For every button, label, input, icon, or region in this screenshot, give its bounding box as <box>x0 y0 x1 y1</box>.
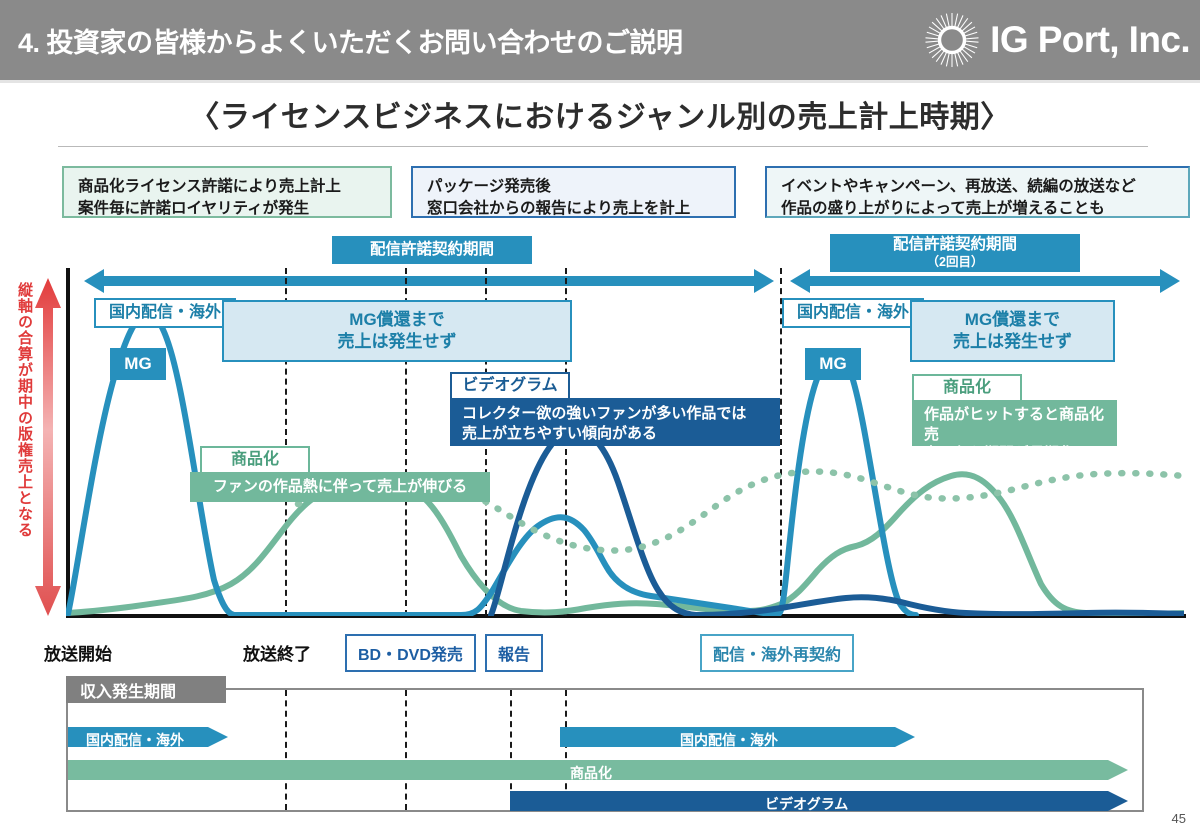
slide-header: 4. 投資家の皆様からよくいただくお問い合わせのご説明 <box>0 0 1200 80</box>
title-divider <box>58 146 1148 147</box>
marker-redistribution-contract: 配信・海外再契約 <box>700 634 854 672</box>
marker-broadcast-end: 放送終了 <box>243 640 311 665</box>
page-number: 45 <box>1172 811 1186 826</box>
chip-videogram-tag: ビデオグラム <box>450 372 570 400</box>
callout-merchandising: 商品化ライセンス許諾により売上計上 案件毎に許諾ロイヤリティが発生 <box>62 166 392 218</box>
ring-logo-icon <box>924 12 980 68</box>
chip-mg-note-right-line2: 売上は発生せず <box>953 331 1072 353</box>
period-tab-1-label: 配信許諾契約期間 <box>370 241 494 259</box>
bar-domestic-2-label: 国内配信・海外 <box>680 730 778 750</box>
marker-report: 報告 <box>485 634 543 672</box>
chip-merch-body-right-line1: 作品がヒットすると商品化売 <box>924 405 1105 444</box>
slide: 4. 投資家の皆様からよくいただくお問い合わせのご説明 <box>0 0 1200 832</box>
period-tab-1: 配信許諾契約期間 <box>332 236 532 264</box>
chip-mg-note-left-line2: 売上は発生せず <box>338 331 457 353</box>
bar-domestic-1-label: 国内配信・海外 <box>86 730 184 750</box>
chip-merch-tag-right: 商品化 <box>912 374 1022 402</box>
btable-guide-1 <box>285 690 287 810</box>
chip-domestic-right: 国内配信・海外 <box>782 298 924 328</box>
chip-videogram-body-line2: 売上が立ちやすい傾向がある <box>462 424 657 444</box>
callout-event: イベントやキャンペーン、再放送、続編の放送など 作品の盛り上がりによって売上が増… <box>765 166 1190 218</box>
page-title: 〈ライセンスビジネスにおけるジャンル別の売上計上時期〉 <box>0 92 1200 136</box>
chip-mg-note-right: MG償還まで 売上は発生せず <box>910 300 1115 362</box>
chip-mg-note-left-line1: MG償還まで <box>349 309 444 331</box>
callout-package: パッケージ発売後 窓口会社からの報告により売上を計上 <box>411 166 736 218</box>
header-title: 4. 投資家の皆様からよくいただくお問い合わせのご説明 <box>18 21 683 60</box>
chip-merch-body-right-line2: 上の収入期間が長期化 <box>924 444 1074 464</box>
chip-mg-note-right-line1: MG償還まで <box>965 309 1060 331</box>
period-tab-2: 配信許諾契約期間 （2回目） <box>830 234 1080 272</box>
brand-name: IG Port, Inc. <box>990 19 1190 61</box>
header-underline <box>0 80 1200 83</box>
chip-domestic-left: 国内配信・海外 <box>94 298 236 328</box>
marker-bd-dvd-release: BD・DVD発売 <box>345 634 476 672</box>
btable-guide-2 <box>405 690 407 810</box>
chip-merch-body-left: ファンの作品熱に伴って売上が伸びる <box>190 472 490 502</box>
income-period-label: 収入発生期間 <box>66 676 226 703</box>
chip-mg-note-left: MG償還まで 売上は発生せず <box>222 300 572 362</box>
bar-merchandising-label: 商品化 <box>570 763 612 783</box>
chip-merch-body-right: 作品がヒットすると商品化売 上の収入期間が長期化 <box>912 400 1117 446</box>
vertical-range-arrow-icon <box>34 278 62 621</box>
chip-videogram-body-line1: コレクター欲の強いファンが多い作品では <box>462 404 746 424</box>
brand-lockup: IG Port, Inc. <box>924 12 1190 68</box>
bar-videogram-label: ビデオグラム <box>765 794 848 814</box>
chip-merch-tag-left: 商品化 <box>200 446 310 474</box>
vertical-axis-note: 縦軸の合算が期中の版権売上となる <box>4 282 32 612</box>
chip-videogram-body: コレクター欲の強いファンが多い作品では 売上が立ちやすい傾向がある <box>450 398 780 446</box>
marker-broadcast-start: 放送開始 <box>44 640 112 665</box>
chip-mg-right: MG <box>805 348 861 380</box>
period-tab-2-label: 配信許諾契約期間 <box>893 236 1017 254</box>
chip-mg-left: MG <box>110 348 166 380</box>
